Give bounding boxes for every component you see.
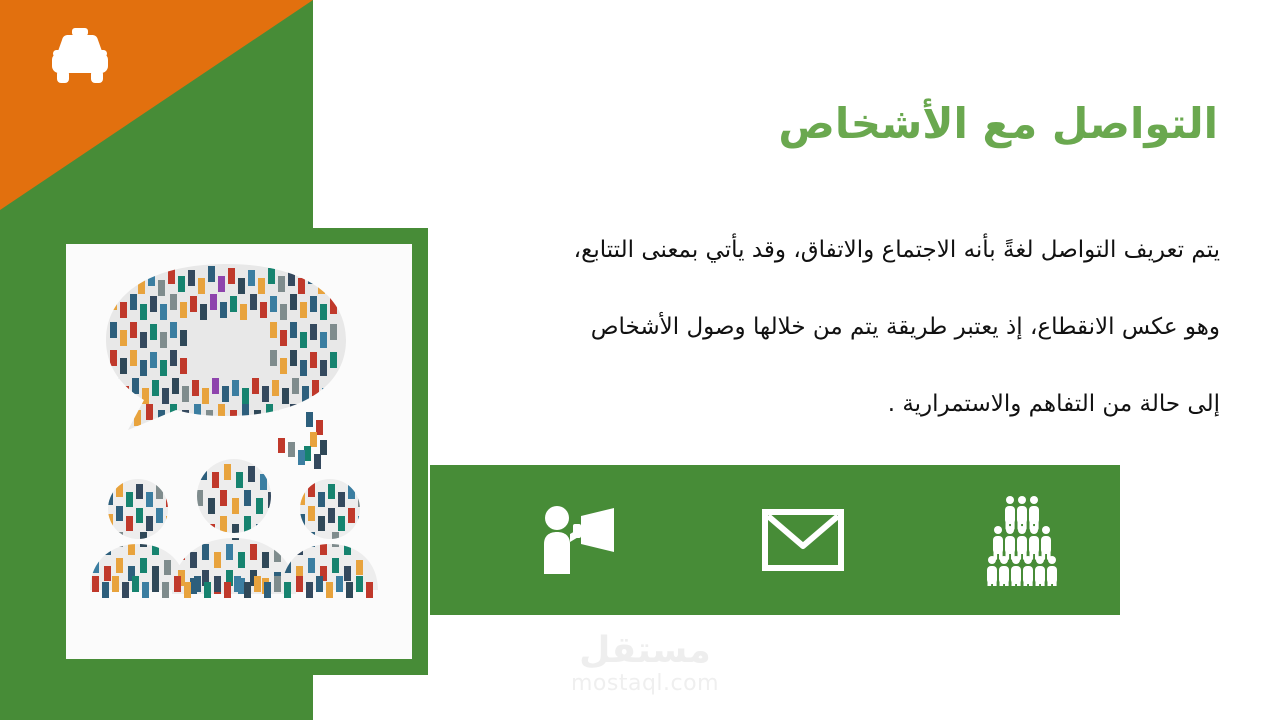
mostaql-watermark: مستقل mostaql.com [545, 632, 745, 696]
page-title: التواصل مع الأشخاص [498, 100, 1218, 148]
people-group-icon [984, 494, 1060, 586]
body-line-1: يتم تعريف التواصل لغةً بأنه الاجتماع وال… [460, 212, 1220, 289]
body-line-2: وهو عكس الانقطاع، إذ يعتبر طريقة يتم من … [460, 289, 1220, 366]
slide-canvas: التواصل مع الأشخاص يتم تعريف التواصل لغة… [0, 0, 1280, 720]
green-icon-bar [430, 465, 1120, 615]
icon-bar-items [430, 465, 1120, 615]
watermark-latin: mostaql.com [545, 671, 745, 696]
photo-frame [50, 228, 428, 675]
envelope-icon [762, 509, 844, 571]
crowd-photo [66, 244, 412, 659]
megaphone-icon [540, 504, 622, 576]
body-paragraph: يتم تعريف التواصل لغةً بأنه الاجتماع وال… [460, 212, 1220, 443]
watermark-arabic: مستقل [545, 632, 745, 670]
body-line-3: إلى حالة من التفاهم والاستمرارية . [460, 366, 1220, 443]
taxi-icon [44, 26, 116, 88]
crowd-illustration [66, 244, 412, 659]
